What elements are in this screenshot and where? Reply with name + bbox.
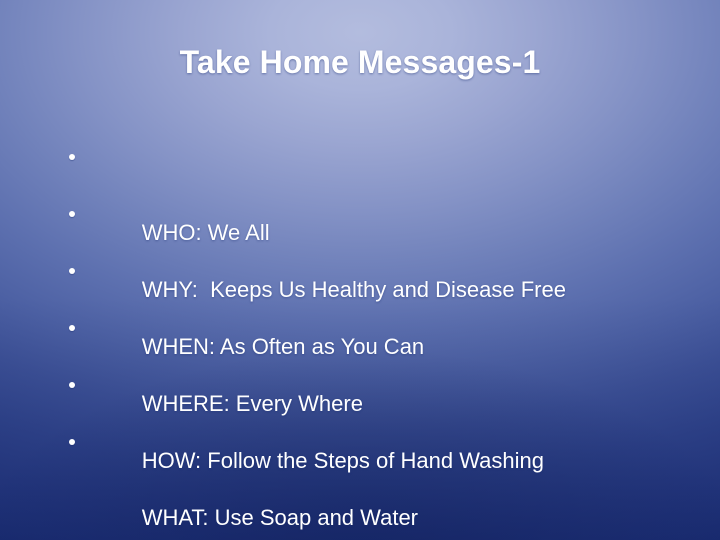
list-item: WHO: We All [62, 138, 682, 195]
bullet-dot-icon [69, 439, 75, 445]
list-item-label: WHAT: Use Soap and Water [142, 505, 418, 530]
list-item: WHEN: As Often as You Can [62, 252, 682, 309]
bullet-dot-icon [69, 268, 75, 274]
bullet-dot-icon [69, 325, 75, 331]
list-item: HOW: Follow the Steps of Hand Washing [62, 366, 682, 423]
take-home-messages-list: WHO: We All WHY: Keeps Us Healthy and Di… [62, 138, 682, 480]
slide-title: Take Home Messages-1 [0, 44, 720, 81]
list-item: WHERE: Every Where [62, 309, 682, 366]
list-item: WHY: Keeps Us Healthy and Disease Free [62, 195, 682, 252]
bullet-dot-icon [69, 211, 75, 217]
presentation-slide: Take Home Messages-1 WHO: We All WHY: Ke… [0, 0, 720, 540]
bullet-dot-icon [69, 154, 75, 160]
list-item: WHAT: Use Soap and Water [62, 423, 682, 480]
bullet-dot-icon [69, 382, 75, 388]
